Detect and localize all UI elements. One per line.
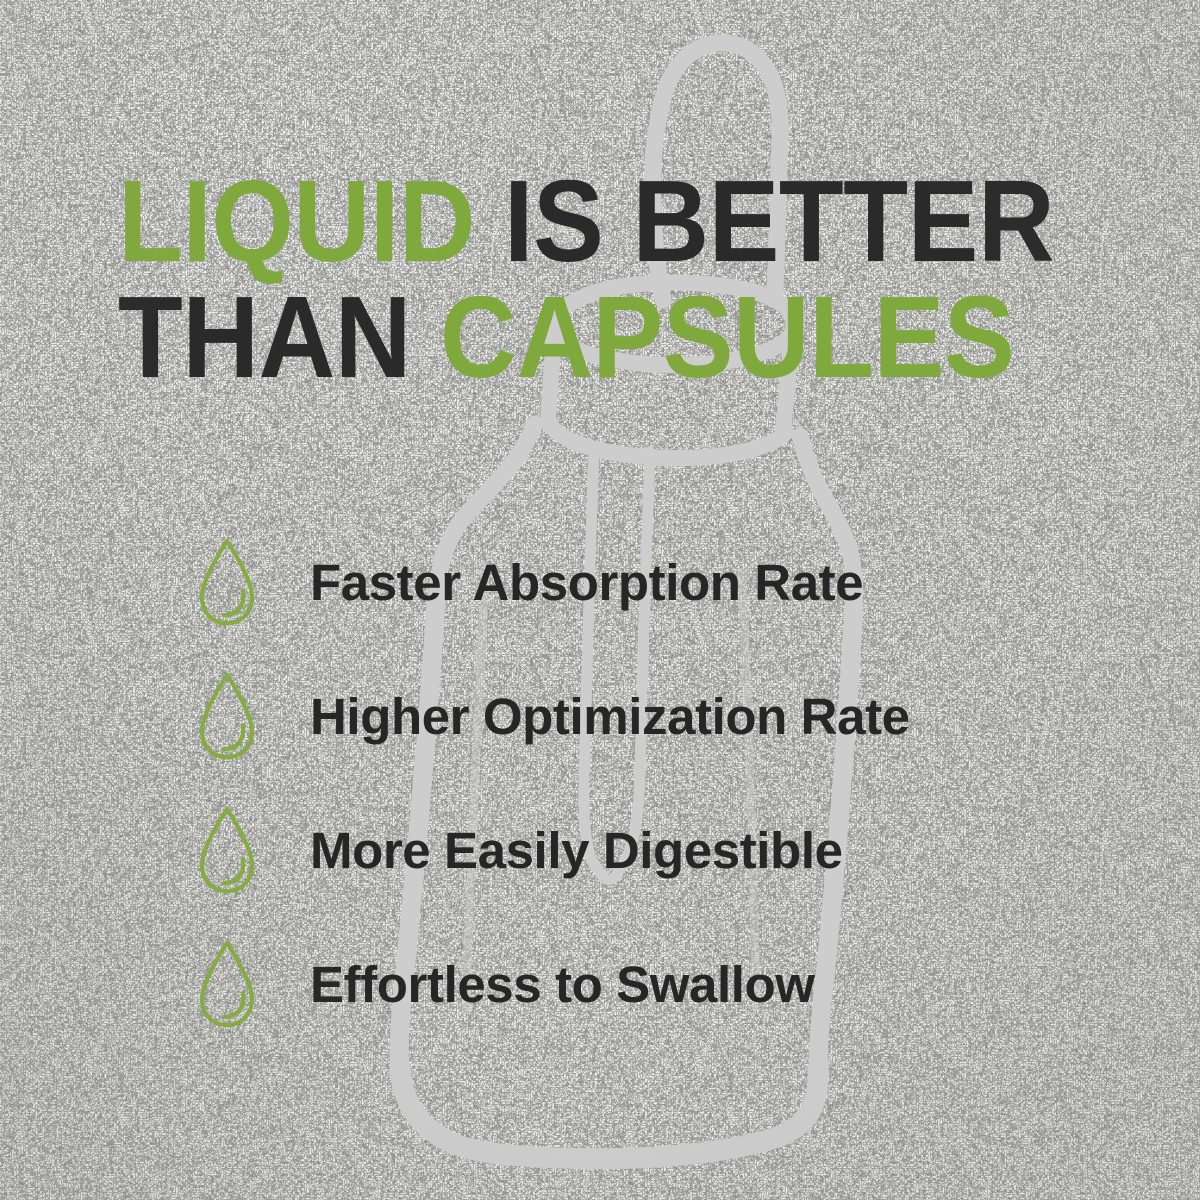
benefits-list: Faster Absorption Rate Higher Optimizati… (196, 528, 1096, 1038)
benefit-label: More Easily Digestible (310, 825, 843, 876)
headline-word-capsules: CAPSULES (440, 272, 1014, 402)
benefit-item: Effortless to Swallow (196, 930, 1096, 1038)
poster-canvas: LIQUID IS BETTER THAN CAPSULES Faster Ab… (0, 0, 1200, 1200)
water-drop-icon (196, 670, 258, 762)
benefit-label: Higher Optimization Rate (310, 691, 910, 742)
benefit-item: More Easily Digestible (196, 796, 1096, 904)
water-drop-icon (196, 938, 258, 1030)
water-drop-icon (196, 804, 258, 896)
benefit-item: Higher Optimization Rate (196, 662, 1096, 770)
benefit-label: Effortless to Swallow (310, 959, 815, 1010)
water-drop-icon (196, 536, 258, 628)
headline-word-liquid: LIQUID (118, 156, 475, 286)
headline-line-2: THAN CAPSULES (118, 284, 1015, 392)
headline-phrase-is-better: IS BETTER (504, 156, 1054, 286)
benefit-item: Faster Absorption Rate (196, 528, 1096, 636)
headline-line-1: LIQUID IS BETTER (118, 168, 1015, 276)
headline-block: LIQUID IS BETTER THAN CAPSULES (118, 168, 1098, 392)
headline-word-than: THAN (118, 272, 411, 402)
benefit-label: Faster Absorption Rate (310, 557, 863, 608)
